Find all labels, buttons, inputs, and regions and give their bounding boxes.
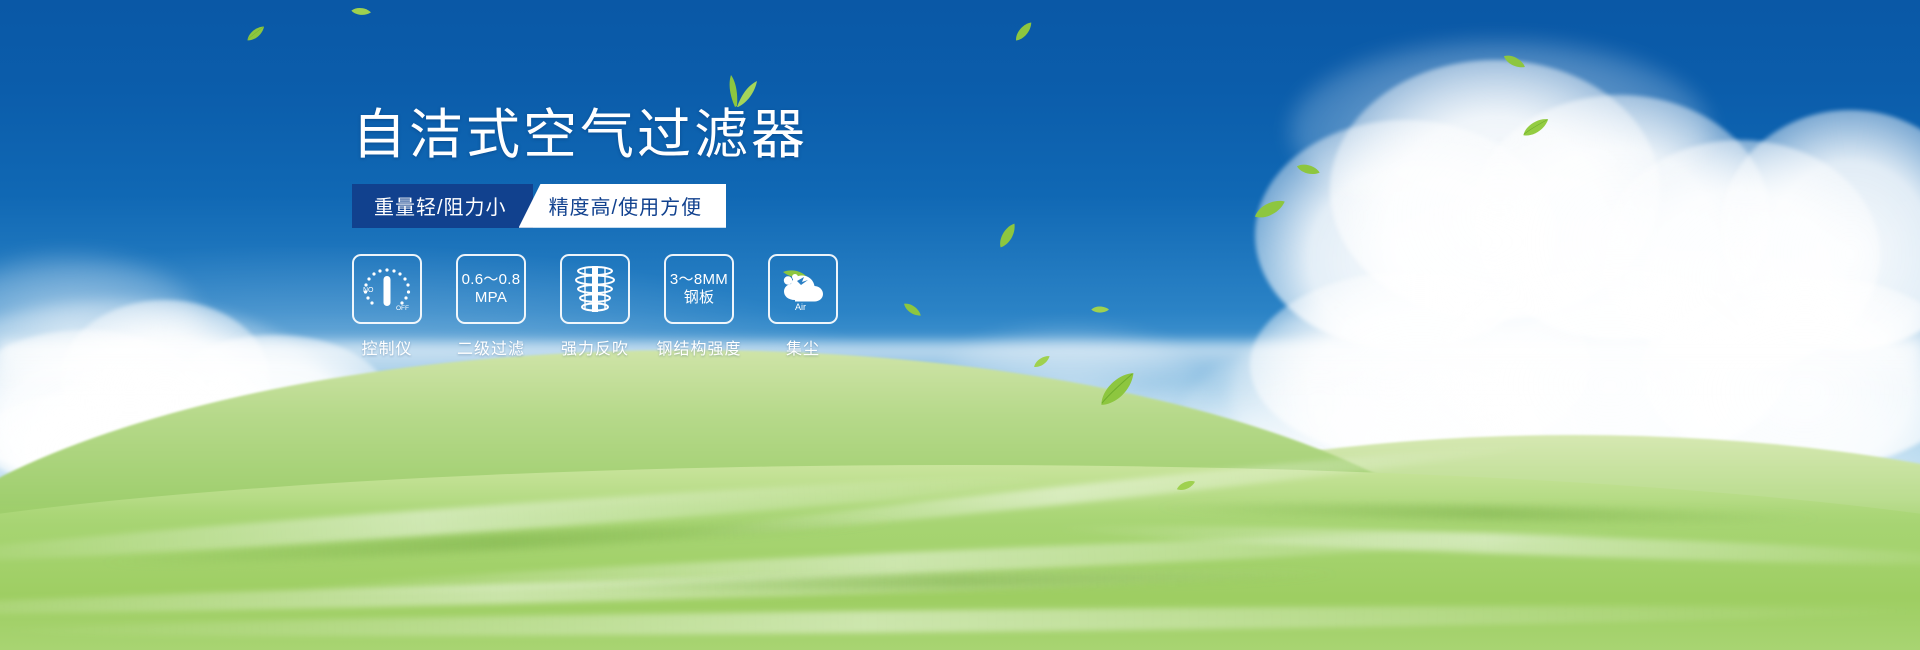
feature-item-dust-collection[interactable]: Air 集尘 — [768, 254, 838, 359]
feature-icon-box: 0.6～0.8 MPA — [456, 254, 526, 324]
title-leaf-icon — [714, 74, 760, 113]
feature-icon-box: NO OFF — [352, 254, 422, 324]
feature-label: 二级过滤 — [457, 335, 525, 359]
feature-label: 强力反吹 — [561, 335, 629, 359]
tab-label: 重量轻/阻力小 — [374, 191, 507, 220]
feature-label: 集尘 — [786, 335, 820, 359]
grass-field — [0, 360, 1920, 650]
pressure-text-icon: 0.6～0.8 MPA — [462, 271, 521, 306]
feature-icon-box: Air — [768, 254, 838, 324]
steel-material: 钢板 — [670, 289, 728, 306]
tab-high-precision-easy-use[interactable]: 精度高/使用方便 — [519, 184, 727, 228]
product-hero-banner: 自洁式空气过滤器 重量轻/阻力小 精度高/使用方便 — [0, 0, 1920, 650]
tab-lightweight-low-resistance[interactable]: 重量轻/阻力小 — [352, 184, 533, 228]
page-title: 自洁式空气过滤器 — [352, 104, 808, 168]
steel-thickness: 3～8MM — [670, 271, 728, 288]
dial-off-label: OFF — [396, 305, 409, 312]
pressure-range: 0.6～0.8 — [462, 271, 521, 288]
feature-label: 钢结构强度 — [657, 335, 742, 359]
feature-item-controller[interactable]: NO OFF 控制仪 — [352, 254, 422, 359]
control-dial-icon: NO OFF — [358, 262, 416, 316]
title-row: 自洁式空气过滤器 — [352, 104, 808, 168]
tab-label: 精度高/使用方便 — [549, 191, 703, 220]
air-label: Air — [795, 302, 806, 312]
feature-tabs: 重量轻/阻力小 精度高/使用方便 — [352, 184, 1052, 228]
dial-on-label: NO — [363, 287, 374, 294]
air-cloud-icon: Air — [775, 266, 831, 312]
feature-item-backflush[interactable]: 强力反吹 — [560, 254, 630, 359]
backflush-coil-icon — [569, 262, 621, 316]
feature-icon-box — [560, 254, 630, 324]
steel-plate-text-icon: 3～8MM 钢板 — [670, 271, 728, 306]
pressure-unit: MPA — [462, 289, 521, 306]
feature-item-secondary-filtration[interactable]: 0.6～0.8 MPA 二级过滤 — [456, 254, 526, 359]
feature-item-steel-strength[interactable]: 3～8MM 钢板 钢结构强度 — [664, 254, 734, 359]
banner-content: 自洁式空气过滤器 重量轻/阻力小 精度高/使用方便 — [352, 104, 1052, 359]
feature-icon-box: 3～8MM 钢板 — [664, 254, 734, 324]
feature-label: 控制仪 — [361, 335, 412, 359]
feature-list: NO OFF 控制仪 0.6～0.8 MPA 二级过滤 — [352, 254, 1052, 359]
